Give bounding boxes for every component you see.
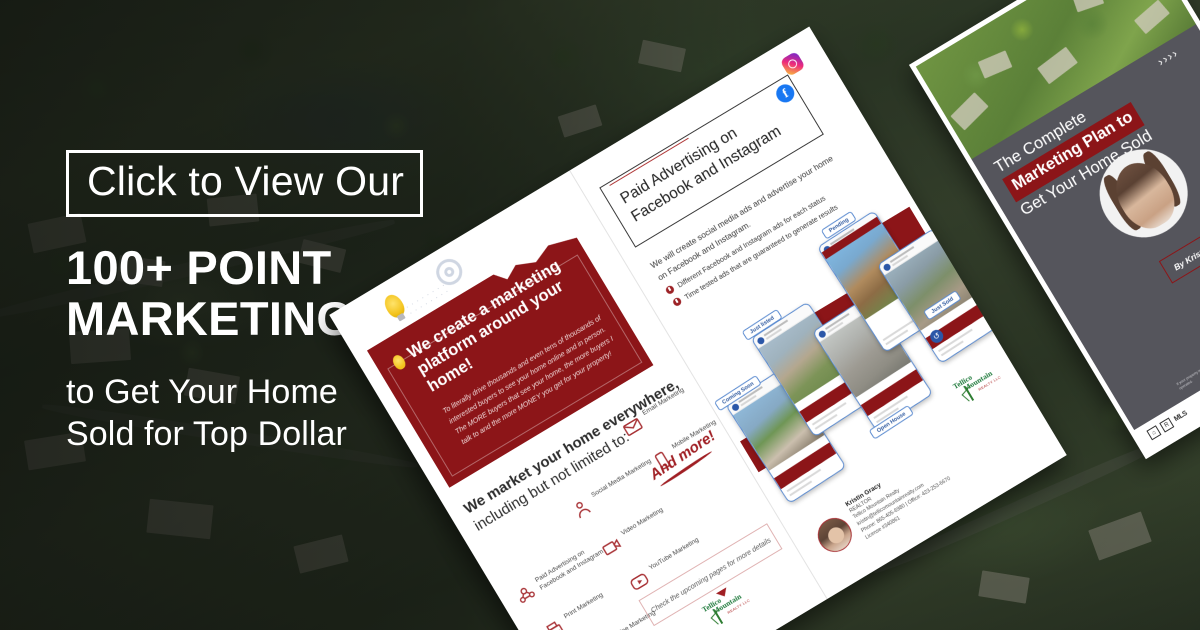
equal-housing-icon: ⌂ bbox=[1146, 425, 1161, 440]
check-bullet-icon bbox=[672, 296, 683, 307]
youtube-icon bbox=[625, 567, 654, 596]
channel-paid-advertising: Paid Advertising on Facebook and Instagr… bbox=[511, 530, 612, 591]
channel-video-marketing: Video Marketing bbox=[597, 483, 698, 544]
social-media-icon bbox=[567, 495, 596, 524]
channel-label: Video Marketing bbox=[620, 487, 698, 539]
agent-avatar bbox=[811, 512, 858, 559]
click-to-view-button[interactable]: Click to View Our bbox=[66, 150, 423, 217]
realtor-icon: R bbox=[1159, 418, 1174, 433]
title-line-1: 100+ POINT bbox=[66, 241, 332, 294]
subtitle-line-1: to Get Your Home bbox=[66, 373, 338, 411]
cta-label: Click to View Our bbox=[87, 160, 404, 203]
promo-banner: Click to View Our 100+ POINT MARKETING P… bbox=[0, 0, 1200, 630]
instagram-icon bbox=[780, 51, 806, 77]
paid-advertising-icon bbox=[511, 580, 540, 609]
mls-label: MLS bbox=[1173, 410, 1189, 423]
check-bullet-icon bbox=[664, 284, 675, 295]
